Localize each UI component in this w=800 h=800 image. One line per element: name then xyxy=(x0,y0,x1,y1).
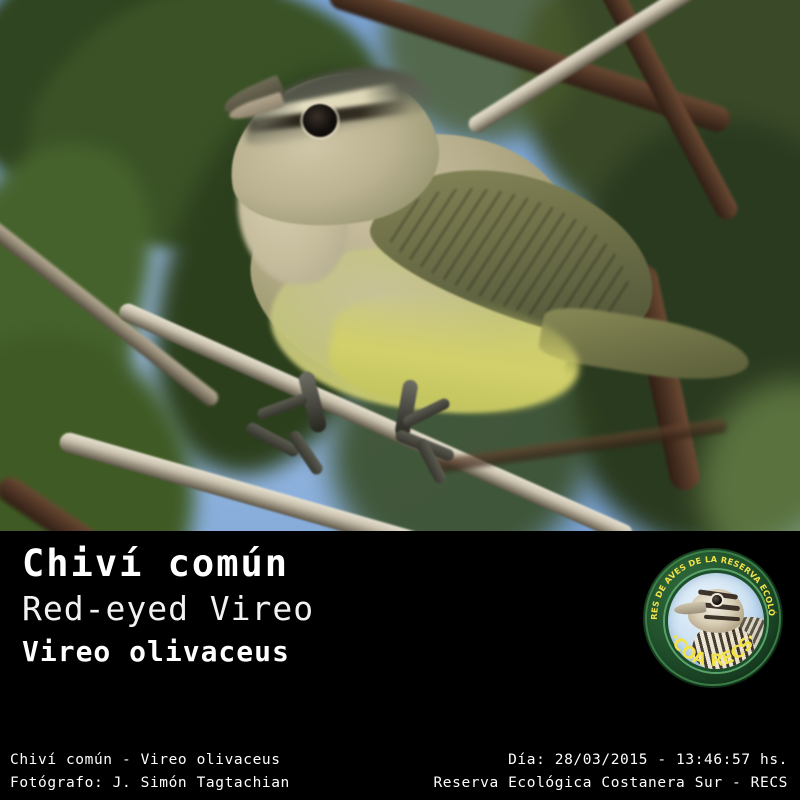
common-name: Chiví común xyxy=(22,541,314,587)
logo-center-medallion xyxy=(665,570,767,672)
footer-location-line: Reserva Ecológica Costanera Sur - RECS xyxy=(433,772,788,795)
caption-bar: Chiví común Red-eyed Vireo Vireo olivace… xyxy=(0,531,800,800)
english-name: Red-eyed Vireo xyxy=(22,587,314,631)
logo-bird-eye xyxy=(712,595,722,605)
scientific-name: Vireo olivaceus xyxy=(22,631,314,673)
footer-date-line: Día: 28/03/2015 - 13:46:57 hs. xyxy=(433,749,788,772)
footer-species-line: Chiví común - Vireo olivaceus xyxy=(10,749,290,772)
species-name-block: Chiví común Red-eyed Vireo Vireo olivace… xyxy=(22,541,314,673)
footer-left-block: Chiví común - Vireo olivaceus Fotógrafo:… xyxy=(10,749,290,795)
footer-photographer-line: Fotógrafo: J. Simón Tagtachian xyxy=(10,772,290,795)
bird-photograph xyxy=(0,0,800,531)
footer-right-block: Día: 28/03/2015 - 13:46:57 hs. Reserva E… xyxy=(433,749,788,795)
coa-recs-logo: CLUB DE OBSERVADORES DE AVES DE LA RESER… xyxy=(643,548,783,688)
photo-caption-card: Chiví común Red-eyed Vireo Vireo olivace… xyxy=(0,0,800,800)
bird-eye xyxy=(303,104,337,137)
